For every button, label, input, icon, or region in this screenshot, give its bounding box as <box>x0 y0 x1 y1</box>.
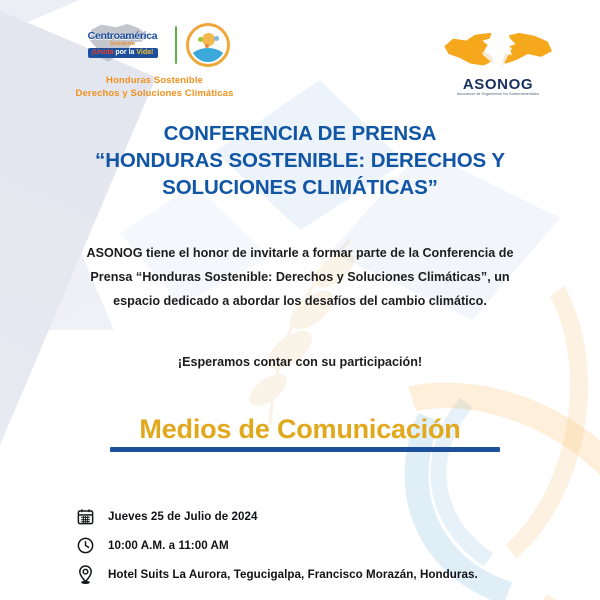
page-title-line2: “HONDURAS SOSTENIBLE: DERECHOS Y <box>40 147 560 174</box>
calendar-icon <box>75 506 96 527</box>
invitation-paragraph: ASONOG tiene el honor de invitarle a for… <box>72 241 528 313</box>
page-title-line1: CONFERENCIA DE PRENSA <box>40 120 560 147</box>
event-details-list: Jueves 25 de Julio de 2024 10:00 A.M. a … <box>75 504 545 591</box>
page-title: CONFERENCIA DE PRENSA “HONDURAS SOSTENIB… <box>40 120 560 201</box>
page-title-line3: SOLUCIONES CLIMÁTICAS” <box>40 174 560 201</box>
event-detail-time: 10:00 A.M. a 11:00 AM <box>75 533 545 558</box>
clock-icon <box>75 535 96 556</box>
section-heading-underline <box>110 447 500 452</box>
event-detail-date: Jueves 25 de Julio de 2024 <box>75 504 545 529</box>
poster-content: CONFERENCIA DE PRENSA “HONDURAS SOSTENIB… <box>0 0 600 600</box>
call-to-action-text: ¡Esperamos contar con su participación! <box>72 352 528 372</box>
press-conference-invitation-poster: Centroamérica Solidaria ¡Unida por la Vi… <box>0 0 600 600</box>
section-heading-media: Medios de Comunicación <box>60 412 540 446</box>
event-time-text: 10:00 A.M. a 11:00 AM <box>108 539 229 552</box>
event-date-text: Jueves 25 de Julio de 2024 <box>108 510 258 523</box>
event-detail-location: Hotel Suits La Aurora, Tegucigalpa, Fran… <box>75 562 545 587</box>
event-location-text: Hotel Suits La Aurora, Tegucigalpa, Fran… <box>108 568 478 581</box>
location-pin-icon <box>75 564 96 585</box>
